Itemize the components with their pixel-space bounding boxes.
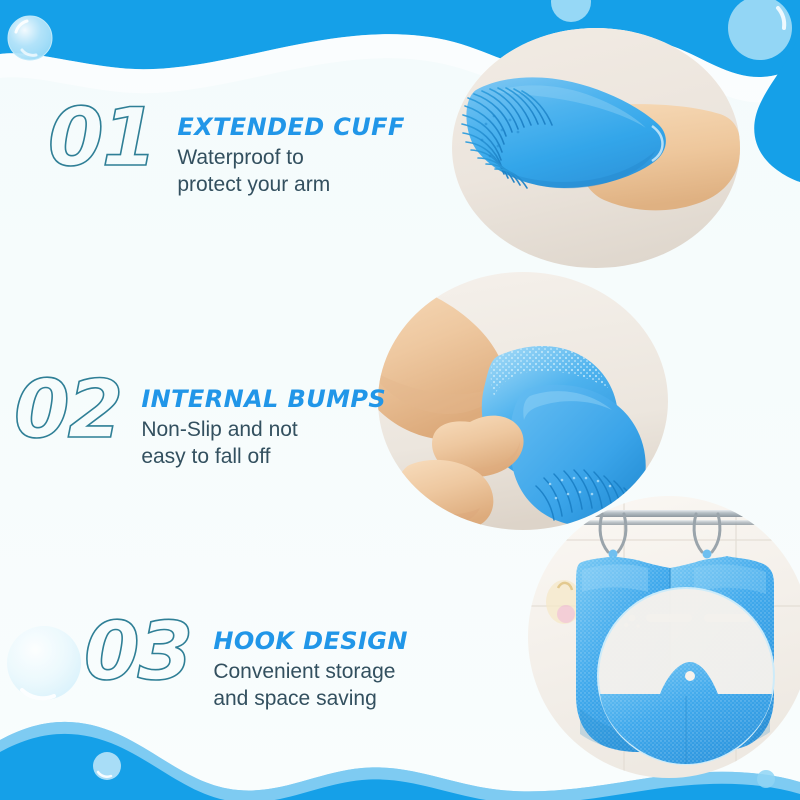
photo-extended-cuff-image: [452, 28, 740, 268]
infographic-canvas: 01 EXTENDED CUFF Waterproof to protect y…: [0, 0, 800, 800]
feature-description-02: Non-Slip and not easy to fall off: [141, 417, 386, 471]
feature-text-03: HOOK DESIGN Convenient storage and space…: [213, 614, 408, 713]
feature-hook-design: 03 HOOK DESIGN Convenient storage and sp…: [84, 614, 408, 713]
photo-extended-cuff: [452, 28, 740, 268]
feature-internal-bumps: 02 INTERNAL BUMPS Non-Slip and not easy …: [14, 372, 386, 471]
feature-number-03: 03: [84, 614, 191, 690]
feature-number-01: 01: [48, 100, 155, 176]
bubble-bottom-left: [7, 626, 81, 700]
feature-description-03: Convenient storage and space saving: [213, 659, 408, 713]
feature-title-02: INTERNAL BUMPS: [141, 386, 386, 412]
feature-number-02: 02: [14, 372, 121, 448]
photo-hook-design: [528, 496, 800, 778]
feature-text-01: EXTENDED CUFF Waterproof to protect your…: [177, 100, 404, 199]
feature-text-02: INTERNAL BUMPS Non-Slip and not easy to …: [141, 372, 386, 471]
bubble-top-left: [8, 16, 52, 60]
feature-title-03: HOOK DESIGN: [213, 628, 408, 654]
photo-hook-design-image: [528, 496, 800, 778]
photo-internal-bumps-image: [378, 272, 668, 530]
feature-title-01: EXTENDED CUFF: [177, 114, 404, 140]
feature-extended-cuff: 01 EXTENDED CUFF Waterproof to protect y…: [48, 100, 405, 199]
feature-description-01: Waterproof to protect your arm: [177, 145, 404, 199]
photo-internal-bumps: [378, 272, 668, 530]
